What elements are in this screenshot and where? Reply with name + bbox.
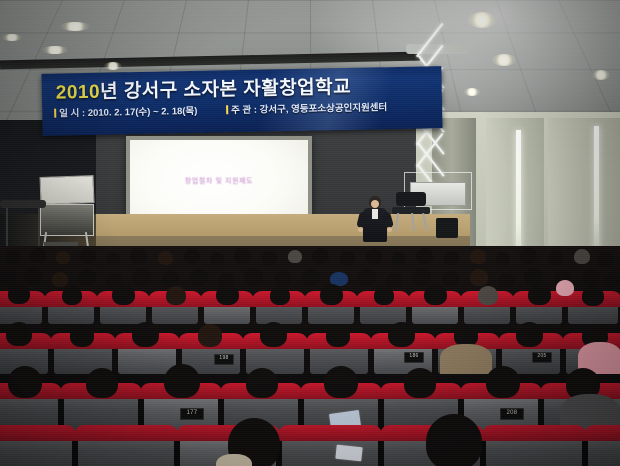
audience-head [216, 284, 239, 305]
audience-head [80, 249, 96, 264]
audience-head [70, 324, 94, 347]
audience-head [312, 248, 329, 264]
banner-bullet-icon [226, 105, 228, 114]
whiteboard-upper [40, 175, 95, 205]
audience-head [320, 284, 343, 305]
auditorium-seat [588, 430, 620, 466]
audience-head [62, 286, 82, 305]
audience-head [326, 324, 350, 347]
audience-head [198, 324, 222, 347]
auditorium-photo: 2010년 강서구 소자본 자활창업학교 일 시 : 2010. 2. 17(수… [0, 0, 620, 466]
audience-head [270, 286, 290, 305]
audience-head [388, 322, 415, 347]
banner-year: 2010 [56, 82, 101, 104]
audience-head [516, 322, 543, 347]
seat-number-plate: 177 [180, 408, 204, 420]
audience-head [470, 249, 486, 264]
audience-head [6, 322, 32, 346]
stage-chair-leg [411, 213, 415, 231]
audience-head [548, 251, 563, 265]
stage-chair-leg [395, 213, 399, 231]
auditorium-seat [282, 430, 378, 466]
audience-head [340, 251, 355, 265]
strip-light [594, 126, 599, 256]
downlight [104, 62, 122, 70]
audience-head-foreground [426, 414, 482, 466]
audience-head [416, 248, 433, 264]
audience-head [86, 368, 118, 398]
downlight [60, 22, 90, 31]
audience-head [574, 249, 590, 264]
audience-shoulders [216, 454, 252, 466]
audience-head [24, 268, 42, 285]
audience-head [520, 248, 537, 264]
audience-head [262, 251, 277, 265]
auditorium-seat [78, 430, 174, 466]
downlight [42, 46, 68, 54]
stage-chair [392, 192, 432, 232]
audience-head [288, 250, 302, 263]
auditorium-seat [0, 430, 72, 466]
audience-head [8, 366, 42, 398]
handout-paper [335, 445, 362, 462]
seat-red-trim [278, 425, 382, 441]
seat-number-plate: 198 [214, 354, 234, 365]
seat-row-1 [0, 284, 620, 324]
banner-title-rest: 년 강서구 소자본 자활창업학교 [100, 77, 351, 103]
stage-chair-back [396, 192, 426, 206]
audience-head [582, 286, 604, 306]
banner-date-value: 2010. 2. 17(수) ~ 2. 18(목) [88, 106, 198, 119]
stage-speaker [436, 218, 458, 238]
audience-head [56, 251, 70, 264]
audience-head [8, 284, 30, 304]
seat-number-plate: 186 [404, 352, 424, 363]
banner-host-label: 주 관 : [231, 105, 257, 116]
audience-head [528, 284, 551, 305]
seat-row-2: 198 186 205 [0, 322, 620, 374]
audience-head [132, 322, 159, 347]
audience-head [478, 286, 498, 305]
side-table-top [0, 200, 46, 208]
downlight [464, 88, 480, 96]
banner-date-label: 일 시 : [59, 108, 85, 119]
audience-head [366, 249, 382, 264]
audience-head [246, 368, 278, 398]
audience-head [164, 364, 200, 398]
seat-red-trim [74, 425, 178, 441]
seat-red-trim [482, 425, 586, 441]
audience-head [158, 251, 173, 265]
stage-chair-leg [422, 213, 428, 231]
presenter-face [371, 200, 379, 208]
audience-head [6, 250, 21, 264]
banner-bullet-icon [54, 109, 56, 118]
audience-head [404, 368, 436, 398]
audience-head [444, 251, 459, 265]
event-banner: 2010년 강서구 소자본 자활창업학교 일 시 : 2010. 2. 17(수… [41, 66, 442, 136]
downlight [2, 34, 22, 41]
slide-text: 창업절차 및 지원제도 [130, 176, 308, 186]
downlight [592, 70, 610, 80]
auditorium-seat [486, 430, 582, 466]
seat-red-trim [0, 425, 76, 441]
audience-head [260, 322, 287, 347]
audience-head [130, 248, 147, 264]
audience-head-pink [556, 280, 574, 296]
seat-row-foreground [0, 424, 620, 466]
audience-head [424, 284, 447, 305]
audience-head [324, 366, 358, 398]
seat-red-trim [584, 425, 620, 441]
downlight [468, 12, 496, 28]
audience-head [234, 248, 251, 264]
audience-head [112, 284, 135, 305]
audience-head [30, 248, 46, 263]
audience-head [374, 286, 394, 305]
seat-number-plate: 205 [532, 352, 552, 363]
audience-area: 198 186 205 [0, 246, 620, 466]
downlight [492, 54, 516, 66]
audience-head [184, 249, 200, 264]
presenter-hand-left [358, 227, 363, 232]
presenter-shirt [372, 209, 378, 219]
audience-head [486, 366, 520, 398]
audience-head [166, 286, 186, 305]
seat-number-plate: 208 [500, 408, 524, 420]
